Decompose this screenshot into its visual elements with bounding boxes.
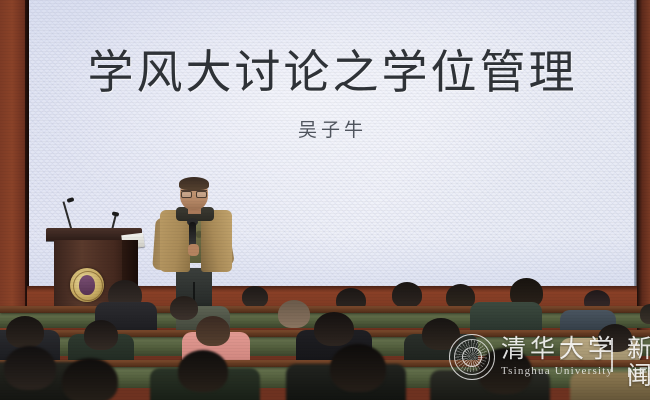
watermark-university-cn: 清华大学	[501, 336, 617, 363]
watermark-divider	[611, 338, 613, 372]
audience-head	[314, 312, 354, 346]
speaker-hair	[179, 177, 209, 190]
audience-head	[242, 286, 268, 308]
slide-subtitle: 吴子牛	[29, 118, 636, 144]
seal-core	[462, 347, 482, 367]
speaker-hand	[188, 244, 199, 256]
slide-title: 学风大讨论之学位管理	[29, 44, 636, 102]
watermark-news-en: NEWS	[627, 364, 650, 380]
audience-head	[392, 282, 422, 308]
audience-head	[6, 316, 44, 348]
audience-head	[170, 296, 198, 320]
audience-head	[4, 346, 56, 390]
watermark-news-cn: 新闻	[627, 336, 650, 390]
audience-head	[278, 300, 310, 328]
audience-head	[196, 316, 230, 346]
glasses-icon	[181, 190, 207, 196]
audience-head	[330, 344, 386, 392]
audience-head	[178, 350, 228, 392]
audience-head	[640, 304, 650, 324]
audience-head	[84, 320, 118, 350]
audience-head	[62, 358, 118, 400]
tsinghua-seal-icon	[449, 334, 495, 380]
watermark-university-en: Tsinghua University	[501, 365, 613, 377]
watermark: 清华大学 Tsinghua University 新闻 NEWS	[449, 330, 645, 388]
photo-frame: 学风大讨论之学位管理 吴子牛	[0, 0, 650, 400]
